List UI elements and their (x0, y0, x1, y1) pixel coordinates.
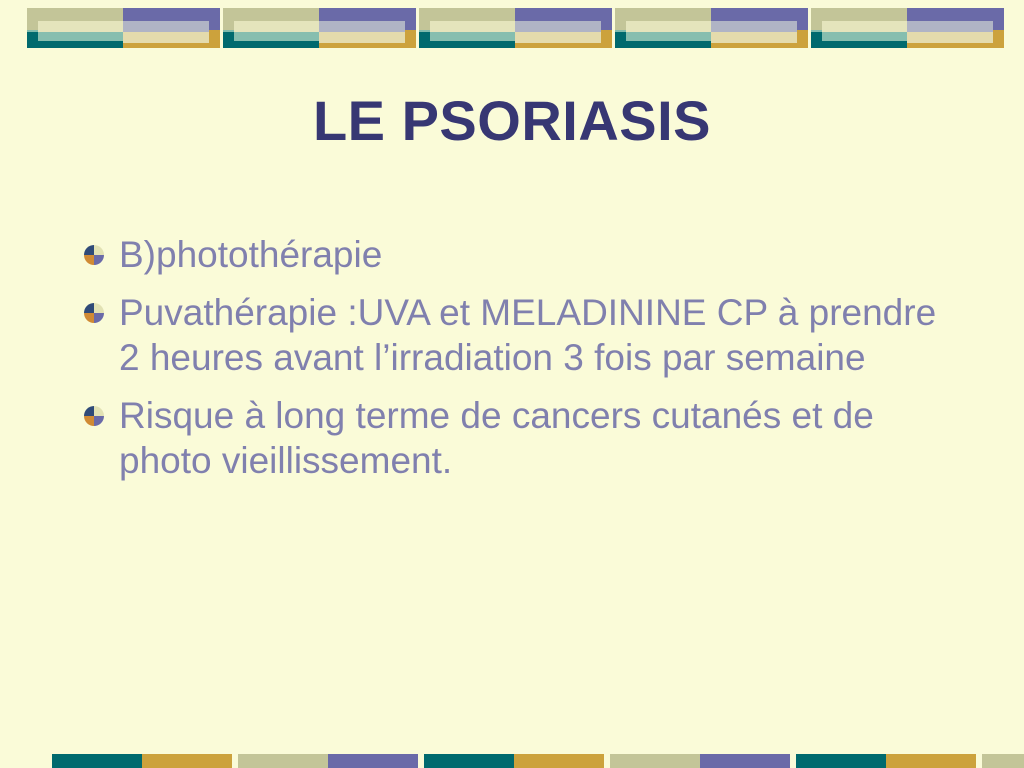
color-swatch-strip-icon (238, 754, 418, 768)
bottom-decoration-band (0, 754, 1024, 768)
list-item-text: B)photothérapie (119, 232, 964, 278)
color-swatch-strip-icon (52, 754, 232, 768)
four-quadrant-circle-bullet-icon (84, 245, 104, 265)
stacked-bars-ornament-icon (811, 8, 1004, 48)
stacked-bars-ornament-icon (419, 8, 612, 48)
bullet-list: B)photothérapie Puvathérapie :UVA et MEL… (84, 232, 964, 496)
list-item-text: Puvathérapie :UVA et MELADININE CP à pre… (119, 290, 964, 381)
four-quadrant-circle-bullet-icon (84, 303, 104, 323)
list-item: Risque à long terme de cancers cutanés e… (84, 393, 964, 484)
stacked-bars-ornament-icon (615, 8, 808, 48)
title-area: LE PSORIASIS (0, 88, 1024, 153)
list-item: B)photothérapie (84, 232, 964, 278)
page-title: LE PSORIASIS (0, 88, 1024, 153)
color-swatch-strip-icon (610, 754, 790, 768)
list-item-text: Risque à long terme de cancers cutanés e… (119, 393, 964, 484)
four-quadrant-circle-bullet-icon (84, 406, 104, 426)
top-decoration-band (0, 0, 1024, 58)
list-item: Puvathérapie :UVA et MELADININE CP à pre… (84, 290, 964, 381)
color-swatch-strip-icon (982, 754, 1024, 768)
color-swatch-strip-icon (796, 754, 976, 768)
color-swatch-strip-icon (424, 754, 604, 768)
stacked-bars-ornament-icon (27, 8, 220, 48)
stacked-bars-ornament-icon (223, 8, 416, 48)
